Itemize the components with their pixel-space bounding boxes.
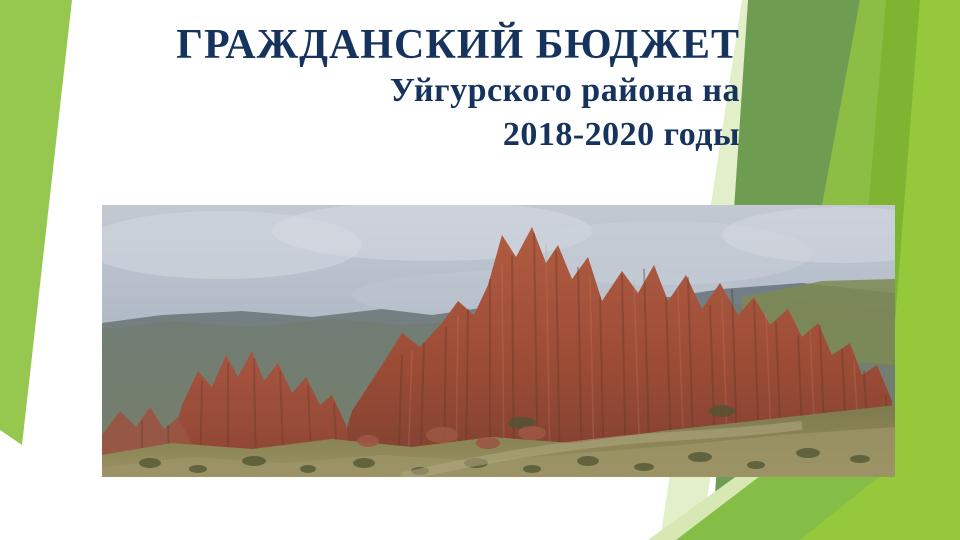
page-title: ГРАЖДАНСКИЙ БЮДЖЕТ Уйгурского района на …	[60, 24, 740, 152]
title-line-subject: Уйгурского района на	[60, 74, 740, 108]
canyon-photo	[102, 205, 895, 477]
bottom-pale-green-shape	[648, 470, 870, 540]
presentation-slide: ГРАЖДАНСКИЙ БЮДЖЕТ Уйгурского района на …	[0, 0, 960, 540]
bottom-bright-green-shape	[800, 476, 960, 540]
bottom-green-shape	[676, 476, 960, 540]
title-line-main: ГРАЖДАНСКИЙ БЮДЖЕТ	[60, 24, 740, 66]
title-line-years: 2018-2020 годы	[60, 118, 740, 152]
